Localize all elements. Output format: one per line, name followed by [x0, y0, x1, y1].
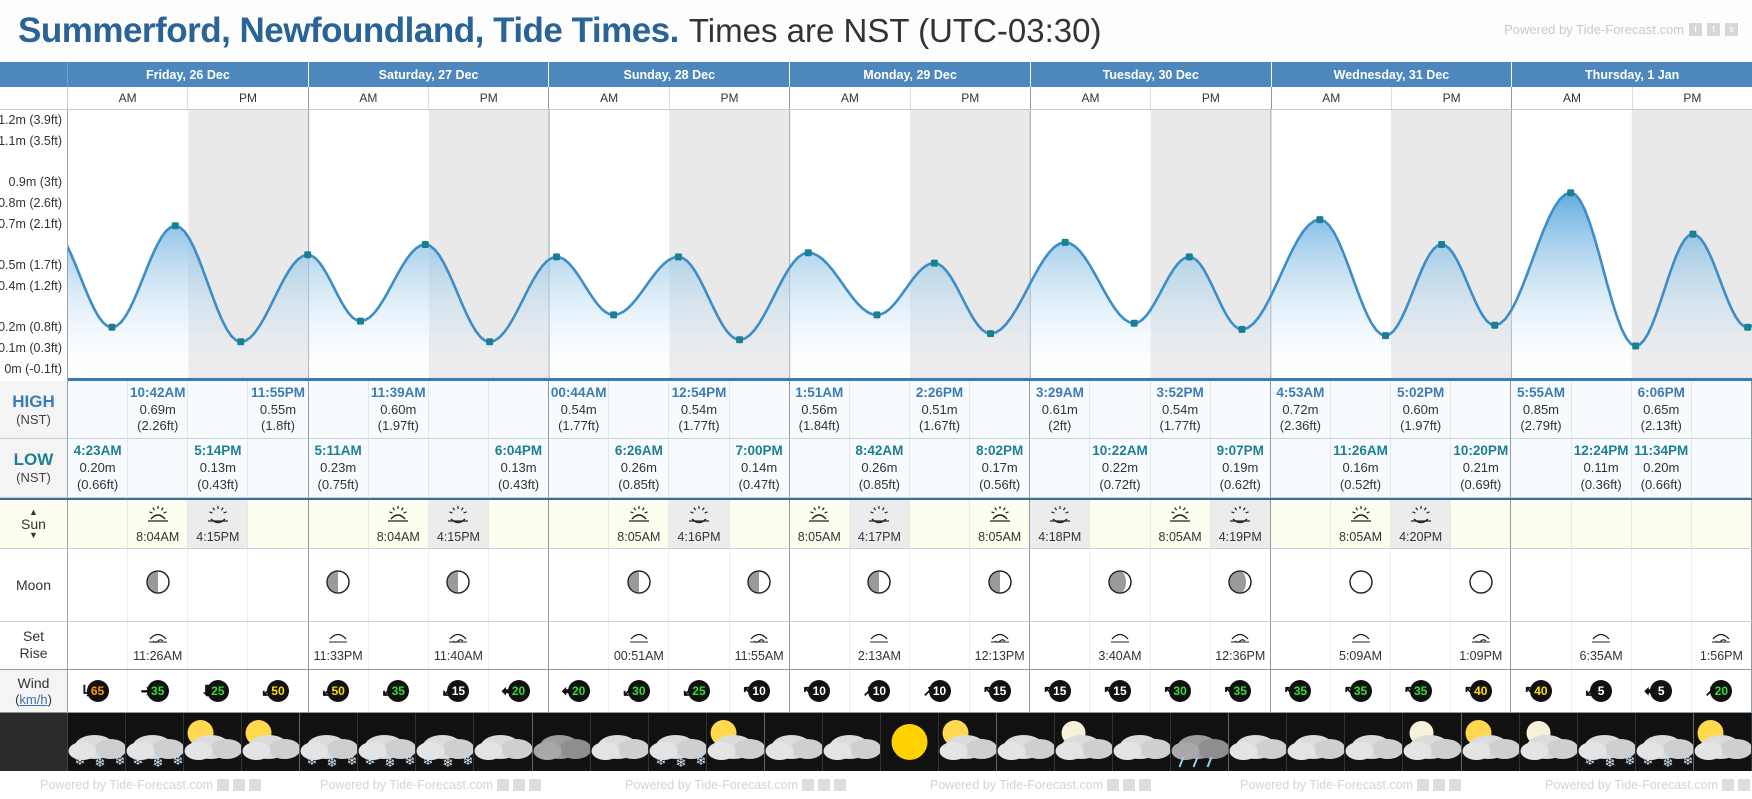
- wind-unit-link[interactable]: km/h: [19, 692, 47, 707]
- weather-icon-moon-cloud-25: [1520, 713, 1578, 771]
- share-icon[interactable]: [1139, 779, 1151, 791]
- low-tide-meters: 0.20m: [80, 460, 116, 476]
- low-tide-cell-15: 8:02PM0.17m(0.56ft): [970, 439, 1030, 497]
- sun-cell-27: [1692, 500, 1752, 548]
- facebook-icon[interactable]: [802, 779, 814, 791]
- moon-event-cell-12: [790, 622, 850, 669]
- halfday-pm-6: PM: [1633, 87, 1752, 109]
- high-tide-cell-19: [1211, 381, 1271, 439]
- sun-cell-10: 4:16PM: [669, 500, 729, 548]
- wind-badge: ↖35: [1406, 676, 1436, 706]
- wind-direction-icon: ↖: [1524, 684, 1537, 699]
- day-header-row: Friday, 26 DecSaturday, 27 DecSunday, 28…: [0, 62, 1752, 87]
- twitter-icon[interactable]: [818, 779, 830, 791]
- low-tide-time: 5:11AM: [314, 443, 361, 460]
- low-tide-feet: (0.72ft): [1099, 477, 1140, 493]
- share-icon[interactable]: [1449, 779, 1461, 791]
- high-tide-cell-25: [1572, 381, 1632, 439]
- wind-badge: ↖30: [1165, 676, 1195, 706]
- sun-label-text: Sun: [21, 517, 46, 531]
- low-tide-time: 6:04PM: [495, 443, 542, 460]
- halfday-pm-3: PM: [911, 87, 1031, 109]
- svg-text:❄: ❄: [327, 755, 338, 770]
- moon-phase-cell-5: [369, 549, 429, 621]
- moon-event-cell-25: 6:35AM: [1572, 622, 1632, 669]
- moon-event-cell-6: 11:40AM: [429, 622, 489, 669]
- halfday-pm-4: PM: [1151, 87, 1271, 109]
- low-tide-feet: (0.66ft): [77, 477, 118, 493]
- sunrise-icon: [1168, 504, 1192, 529]
- moon-phase-cell-1: [128, 549, 188, 621]
- wind-direction-icon: ↖: [1344, 684, 1357, 699]
- facebook-icon[interactable]: f: [1689, 23, 1702, 36]
- low-tide-feet: (0.43ft): [197, 477, 238, 493]
- wind-direction-icon: ↖: [802, 684, 815, 699]
- high-tide-feet: (1.84ft): [799, 418, 840, 434]
- weather-icon-snow-cloud-5: ❄❄❄: [358, 713, 416, 771]
- tide-forecast-page: Summerford, Newfoundland, Tide Times. Ti…: [0, 0, 1752, 787]
- footer-watermark-text: Powered by Tide-Forecast.com: [320, 778, 493, 792]
- moon-event-cell-17: 3:40AM: [1090, 622, 1150, 669]
- moon-event-time: 5:09AM: [1339, 649, 1382, 663]
- sun-cell-7: [489, 500, 549, 548]
- sun-time: 8:04AM: [377, 530, 420, 544]
- svg-text:❄: ❄: [115, 753, 126, 768]
- low-tide-feet: (0.62ft): [1220, 477, 1261, 493]
- low-tide-cell-26: 11:34PM0.20m(0.66ft): [1632, 439, 1692, 497]
- high-tide-time: 1:51AM: [795, 385, 843, 402]
- y-tick-7: 0.2m (0.8ft): [0, 320, 62, 334]
- sun-cell-9: 8:05AM: [609, 500, 669, 548]
- moon-event-cell-2: [188, 622, 248, 669]
- halfday-am-4: AM: [1031, 87, 1151, 109]
- low-tide-feet: (0.85ft): [859, 477, 900, 493]
- moon-phase-cell-8: [549, 549, 609, 621]
- sunrise-icon: [807, 504, 831, 529]
- high-tide-meters: 0.72m: [1282, 402, 1318, 418]
- svg-text:❄: ❄: [75, 753, 86, 768]
- low-tide-feet: (0.36ft): [1580, 477, 1621, 493]
- wind-direction-icon: ↖: [983, 684, 996, 699]
- low-tide-cell-13: 8:42AM0.26m(0.85ft): [850, 439, 910, 497]
- sun-cell-22: 4:20PM: [1391, 500, 1451, 548]
- low-tide-cell-9: 6:26AM0.26m(0.85ft): [609, 439, 669, 497]
- weather-icon-sun-cloud-15: [939, 713, 997, 771]
- paren-close: ): [48, 692, 52, 707]
- sun-cell-26: [1632, 500, 1692, 548]
- moonrise-icon: [326, 627, 350, 649]
- sun-cell-19: 4:19PM: [1211, 500, 1271, 548]
- wind-cell-14: ↗10: [910, 670, 970, 712]
- twitter-icon[interactable]: [513, 779, 525, 791]
- high-tide-cell-3: 11:55PM0.55m(1.8ft): [248, 381, 308, 439]
- day-header-corner: [0, 62, 68, 87]
- wind-cell-9: ↙30: [609, 670, 669, 712]
- sun-cell-15: 8:05AM: [970, 500, 1030, 548]
- svg-text:❄: ❄: [1642, 753, 1653, 768]
- day-header-5: Wednesday, 31 Dec: [1272, 62, 1513, 87]
- weather-icon-cloud-22: [1345, 713, 1403, 771]
- wind-badge: ↳65: [83, 676, 113, 706]
- weather-icon-snow-cloud-4: ❄❄❄: [300, 713, 358, 771]
- wind-badge: ↙15: [443, 676, 473, 706]
- high-tide-time: 00:44AM: [551, 385, 607, 402]
- wind-badge: ↙5: [1586, 676, 1616, 706]
- halfday-am-1: AM: [309, 87, 429, 109]
- weather-icon-cloud-20: [1229, 713, 1287, 771]
- high-tide-time: 3:52PM: [1156, 385, 1203, 402]
- low-tide-meters: 0.13m: [500, 460, 536, 476]
- wind-direction-icon: ➔: [141, 684, 154, 699]
- wind-direction-icon: ↖: [1163, 684, 1176, 699]
- moon-phase-cell-23: [1451, 549, 1511, 621]
- wind-badge: ↙30: [624, 676, 654, 706]
- wind-direction-icon: ↙: [261, 684, 274, 699]
- high-tide-cell-6: [429, 381, 489, 439]
- high-tide-cell-23: [1451, 381, 1511, 439]
- weather-icon-cloud-12: [765, 713, 823, 771]
- moon-event-time: 00:51AM: [614, 649, 664, 663]
- moon-event-time: 11:55AM: [735, 649, 784, 663]
- moon-event-time: 1:09PM: [1459, 649, 1502, 663]
- moon-event-cell-8: [549, 622, 609, 669]
- y-tick-3: 0.8m (2.6ft): [0, 196, 62, 210]
- high-tide-meters: 0.65m: [1643, 402, 1679, 418]
- moon-phase-cell-2: [188, 549, 248, 621]
- y-tick-9: 0m (-0.1ft): [4, 362, 62, 376]
- halfday-pm-1: PM: [429, 87, 549, 109]
- halfday-am-6: AM: [1512, 87, 1632, 109]
- high-tide-cell-9: [609, 381, 669, 439]
- svg-text:❄: ❄: [423, 753, 434, 768]
- weather-icon-snow-cloud-0: ❄❄❄: [68, 713, 126, 771]
- high-tide-cell-5: 11:39AM0.60m(1.97ft): [369, 381, 429, 439]
- wind-direction-icon: ↖: [1404, 684, 1417, 699]
- wind-direction-icon: ⬅: [502, 684, 515, 699]
- moon-event-cell-4: 11:33PM: [309, 622, 369, 669]
- high-tide-cell-16: 3:29AM0.61m(2ft): [1030, 381, 1090, 439]
- wind-direction-icon: ↖: [1103, 684, 1116, 699]
- low-label-text: LOW: [14, 451, 54, 470]
- low-tide-cell-16: [1030, 439, 1090, 497]
- footer-watermark-2: Powered by Tide-Forecast.com: [625, 778, 846, 792]
- sun-time: 4:20PM: [1399, 530, 1442, 544]
- moonrise-icon: [1589, 627, 1613, 649]
- wind-cell-19: ↖35: [1211, 670, 1271, 712]
- wind-badge: ➔35: [143, 676, 173, 706]
- weather-icon-cloud-dark-8: [533, 713, 591, 771]
- high-tide-cell-11: [730, 381, 790, 439]
- high-tide-cell-12: 1:51AM0.56m(1.84ft): [790, 381, 850, 439]
- moon-event-time: 3:40AM: [1098, 649, 1141, 663]
- svg-text:❄: ❄: [153, 755, 164, 770]
- moon-phase-icon: [1469, 570, 1493, 599]
- svg-text:❄: ❄: [463, 753, 474, 768]
- moon-phase-cell-19: [1211, 549, 1271, 621]
- sun-cell-5: 8:04AM: [369, 500, 429, 548]
- high-tide-meters: 0.54m: [1162, 402, 1198, 418]
- low-tide-meters: 0.14m: [741, 460, 777, 476]
- svg-text:❄: ❄: [675, 755, 686, 770]
- weather-icon-partly-sunny-2: [184, 713, 242, 771]
- sun-cell-8: [549, 500, 609, 548]
- low-tide-cell-4: 5:11AM0.23m(0.75ft): [309, 439, 369, 497]
- svg-text:❄: ❄: [173, 753, 184, 768]
- share-icon[interactable]: [249, 779, 261, 791]
- moon-event-cell-9: 00:51AM: [609, 622, 669, 669]
- twitter-icon[interactable]: [1123, 779, 1135, 791]
- halfday-pm-5: PM: [1392, 87, 1512, 109]
- high-tide-meters: 0.60m: [1403, 402, 1439, 418]
- low-tide-cell-7: 6:04PM0.13m(0.43ft): [489, 439, 549, 497]
- wind-direction-icon: ↖: [1464, 684, 1477, 699]
- moon-phase-cell-6: [429, 549, 489, 621]
- halfday-pm-2: PM: [670, 87, 790, 109]
- weather-icon-moon-cloud-23: [1403, 713, 1461, 771]
- facebook-icon[interactable]: [497, 779, 509, 791]
- low-tide-time: 5:14PM: [194, 443, 241, 460]
- y-tick-8: 0.1m (0.3ft): [0, 341, 62, 355]
- wind-cell-4: ↙50: [309, 670, 369, 712]
- sunrise-icon: [1349, 504, 1373, 529]
- sun-time: 8:05AM: [798, 530, 841, 544]
- svg-text:❄: ❄: [365, 753, 376, 768]
- wind-badge: ↖40: [1466, 676, 1496, 706]
- low-tide-meters: 0.20m: [1643, 460, 1679, 476]
- low-tide-cell-21: 11:26AM0.16m(0.52ft): [1331, 439, 1391, 497]
- low-tide-time: 4:23AM: [74, 443, 122, 460]
- sun-time: 4:16PM: [677, 530, 720, 544]
- facebook-icon[interactable]: [217, 779, 229, 791]
- wind-badge: ↗10: [864, 676, 894, 706]
- y-tick-0: 1.2m (3.9ft): [0, 113, 62, 127]
- day-header-1: Saturday, 27 Dec: [309, 62, 550, 87]
- moonset-icon: [146, 627, 170, 649]
- footer-watermark-1: Powered by Tide-Forecast.com: [320, 778, 541, 792]
- low-tide-time: 8:02PM: [976, 443, 1023, 460]
- moon-phase-row: Moon: [0, 549, 1752, 622]
- moon-phase-cell-18: [1151, 549, 1211, 621]
- facebook-icon[interactable]: [1107, 779, 1119, 791]
- sun-time: 4:17PM: [858, 530, 901, 544]
- wind-direction-icon: ⬅: [562, 684, 575, 699]
- low-tide-label: LOW (NST): [0, 439, 68, 497]
- footer-watermark-text: Powered by Tide-Forecast.com: [1240, 778, 1413, 792]
- low-tide-row: LOW (NST) 4:23AM0.20m(0.66ft)5:14PM0.13m…: [0, 439, 1752, 499]
- wind-cell-5: ↙35: [369, 670, 429, 712]
- moon-event-cell-26: [1632, 622, 1692, 669]
- high-tide-cell-2: [188, 381, 248, 439]
- moon-phase-cell-21: [1331, 549, 1391, 621]
- share-icon[interactable]: [834, 779, 846, 791]
- high-tide-feet: (1.77ft): [558, 418, 599, 434]
- moon-phase-cell-9: [609, 549, 669, 621]
- wind-badge: ⬅20: [564, 676, 594, 706]
- low-tide-meters: 0.11m: [1584, 460, 1619, 476]
- moon-setrise-label: Set Rise: [0, 622, 68, 669]
- moon-phase-cell-25: [1572, 549, 1632, 621]
- high-tide-meters: 0.85m: [1523, 402, 1559, 418]
- moon-phase-cell-7: [489, 549, 549, 621]
- low-tide-cell-11: 7:00PM0.14m(0.47ft): [730, 439, 790, 497]
- weather-icon-snow-cloud-1: ❄❄❄: [126, 713, 184, 771]
- low-tide-cell-24: [1511, 439, 1571, 497]
- moon-phase-icon: [1228, 570, 1252, 599]
- low-tide-feet: (0.52ft): [1340, 477, 1381, 493]
- tide-curve-chart: 1.2m (3.9ft)1.1m (3.5ft)0.9m (3ft)0.8m (…: [0, 110, 1752, 381]
- twitter-icon[interactable]: [1738, 779, 1750, 791]
- low-tide-meters: 0.22m: [1102, 460, 1138, 476]
- wind-badge: ↖40: [1526, 676, 1556, 706]
- sun-cell-11: [730, 500, 790, 548]
- high-tide-meters: 0.54m: [561, 402, 597, 418]
- sun-cell-21: 8:05AM: [1331, 500, 1391, 548]
- sunset-icon: [1048, 504, 1072, 529]
- wind-cell-17: ↖15: [1090, 670, 1150, 712]
- high-tide-time: 2:26PM: [916, 385, 963, 402]
- weather-icon-snow-cloud-10: ❄❄❄: [649, 713, 707, 771]
- svg-text:❄: ❄: [307, 753, 318, 768]
- low-tide-time: 8:42AM: [855, 443, 903, 460]
- wind-direction-icon: ⬅: [1644, 684, 1657, 699]
- twitter-icon[interactable]: t: [1707, 23, 1720, 36]
- low-tide-cell-27: [1692, 439, 1752, 497]
- high-tide-meters: 0.60m: [380, 402, 416, 418]
- wind-badge: ↖35: [1225, 676, 1255, 706]
- sun-time: 4:15PM: [196, 530, 239, 544]
- sun-cell-12: 8:05AM: [790, 500, 850, 548]
- high-tide-cell-26: 6:06PM0.65m(2.13ft): [1632, 381, 1692, 439]
- high-tide-cell-15: [970, 381, 1030, 439]
- moon-event-cell-14: [910, 622, 970, 669]
- wind-cell-13: ↗10: [850, 670, 910, 712]
- wind-badge: ↖10: [804, 676, 834, 706]
- moon-phase-cell-13: [850, 549, 910, 621]
- halfday-am-2: AM: [549, 87, 669, 109]
- high-tide-cell-27: [1692, 381, 1752, 439]
- wind-direction-icon: ↙: [381, 684, 394, 699]
- wind-direction-icon: ↙: [682, 684, 695, 699]
- weather-icon-cloud-9: [591, 713, 649, 771]
- sun-label: ▲ Sun ▼: [0, 500, 68, 548]
- low-tide-cell-23: 10:20PM0.21m(0.69ft): [1451, 439, 1511, 497]
- footer-watermark-text: Powered by Tide-Forecast.com: [625, 778, 798, 792]
- high-tide-feet: (2.79ft): [1520, 418, 1561, 434]
- weather-icon-cloud-13: [823, 713, 881, 771]
- wind-direction-icon: ↗: [923, 684, 936, 699]
- powered-by-text: Powered by Tide-Forecast.com: [1504, 22, 1684, 37]
- share-icon[interactable]: s: [1725, 23, 1738, 36]
- moon-phase-cell-0: [68, 549, 128, 621]
- sunrise-icon: [386, 504, 410, 529]
- moonset-icon: [1709, 627, 1733, 649]
- high-tide-feet: (1.77ft): [1160, 418, 1201, 434]
- sun-down-arrow-icon: ▼: [29, 531, 38, 540]
- low-tide-cell-1: [128, 439, 188, 497]
- halfday-am-5: AM: [1272, 87, 1392, 109]
- low-tide-meters: 0.26m: [861, 460, 897, 476]
- low-tide-cell-0: 4:23AM0.20m(0.66ft): [68, 439, 128, 497]
- weather-icon-cloud-16: [997, 713, 1055, 771]
- weather-icon-row: ❄❄❄❄❄❄❄❄❄❄❄❄❄❄❄❄❄❄❄❄❄❄❄❄: [0, 713, 1752, 771]
- sun-time: 4:18PM: [1038, 530, 1081, 544]
- moon-event-time: 1:56PM: [1700, 649, 1743, 663]
- wind-cell-25: ↙5: [1572, 670, 1632, 712]
- wind-badge: ↙25: [684, 676, 714, 706]
- wind-direction-icon: ↙: [321, 684, 334, 699]
- moon-event-cell-7: [489, 622, 549, 669]
- wind-cell-2: ⬇25: [188, 670, 248, 712]
- high-tide-cell-1: 10:42AM0.69m(2.26ft): [128, 381, 188, 439]
- y-tick-6: 0.4m (1.2ft): [0, 279, 62, 293]
- wind-cell-8: ⬅20: [549, 670, 609, 712]
- wind-row: Wind (km/h) ↳65➔35⬇25↙50↙50↙35↙15⬅20⬅20↙…: [0, 670, 1752, 713]
- twitter-icon[interactable]: [233, 779, 245, 791]
- footer-watermarks: Powered by Tide-Forecast.comPowered by T…: [0, 771, 1752, 799]
- halfday-am-0: AM: [68, 87, 188, 109]
- low-tide-feet: (0.69ft): [1460, 477, 1501, 493]
- wind-direction-icon: ↳: [81, 684, 94, 699]
- wind-cell-26: ⬅5: [1632, 670, 1692, 712]
- moon-phase-icon: [867, 570, 891, 599]
- wind-cell-21: ↖35: [1331, 670, 1391, 712]
- facebook-icon[interactable]: [1417, 779, 1429, 791]
- moon-phase-cell-14: [910, 549, 970, 621]
- weather-icon-cloud-7: [474, 713, 532, 771]
- moon-phase-icon: [1108, 570, 1132, 599]
- y-tick-1: 1.1m (3.5ft): [0, 134, 62, 148]
- facebook-icon[interactable]: [1722, 779, 1734, 791]
- high-tide-time: 12:54PM: [672, 385, 727, 402]
- high-tide-meters: 0.61m: [1042, 402, 1078, 418]
- high-label-text: HIGH: [12, 393, 55, 412]
- high-tide-feet: (1.77ft): [678, 418, 719, 434]
- sun-time: 8:04AM: [136, 530, 179, 544]
- sun-cell-1: 8:04AM: [128, 500, 188, 548]
- moonrise-icon: [867, 627, 891, 649]
- low-tide-cell-3: [248, 439, 308, 497]
- sun-row: ▲ Sun ▼ 8:04AM4:15PM8:04AM4:15PM8:05AM4:…: [0, 500, 1752, 549]
- high-tide-cell-22: 5:02PM0.60m(1.97ft): [1391, 381, 1451, 439]
- low-tide-meters: 0.19m: [1222, 460, 1258, 476]
- wind-cell-24: ↖40: [1511, 670, 1571, 712]
- wind-label-text: Wind: [18, 675, 50, 692]
- moonset-icon: [446, 627, 470, 649]
- high-tide-cell-7: [489, 381, 549, 439]
- high-tide-cell-20: 4:53AM0.72m(2.36ft): [1271, 381, 1331, 439]
- moon-event-cell-10: [669, 622, 729, 669]
- svg-text:❄: ❄: [443, 755, 454, 770]
- wind-cell-27: ↗20: [1692, 670, 1752, 712]
- moon-phase-cell-20: [1271, 549, 1331, 621]
- halfday-header-row: AMPMAMPMAMPMAMPMAMPMAMPMAMPM: [0, 87, 1752, 110]
- moonset-icon: [747, 627, 771, 649]
- low-tide-time: 12:24PM: [1574, 443, 1629, 460]
- sun-cell-20: [1271, 500, 1331, 548]
- sunset-icon: [867, 504, 891, 529]
- wind-label: Wind (km/h): [0, 670, 68, 712]
- low-tide-cell-12: [790, 439, 850, 497]
- wind-cell-3: ↙50: [248, 670, 308, 712]
- twitter-icon[interactable]: [1433, 779, 1445, 791]
- sun-cell-6: 4:15PM: [429, 500, 489, 548]
- high-tide-cell-14: 2:26PM0.51m(1.67ft): [910, 381, 970, 439]
- moon-phase-icon: [1349, 570, 1373, 599]
- sun-time: 8:05AM: [1339, 530, 1382, 544]
- moon-label: Moon: [0, 549, 68, 621]
- share-icon[interactable]: [529, 779, 541, 791]
- sunrise-icon: [146, 504, 170, 529]
